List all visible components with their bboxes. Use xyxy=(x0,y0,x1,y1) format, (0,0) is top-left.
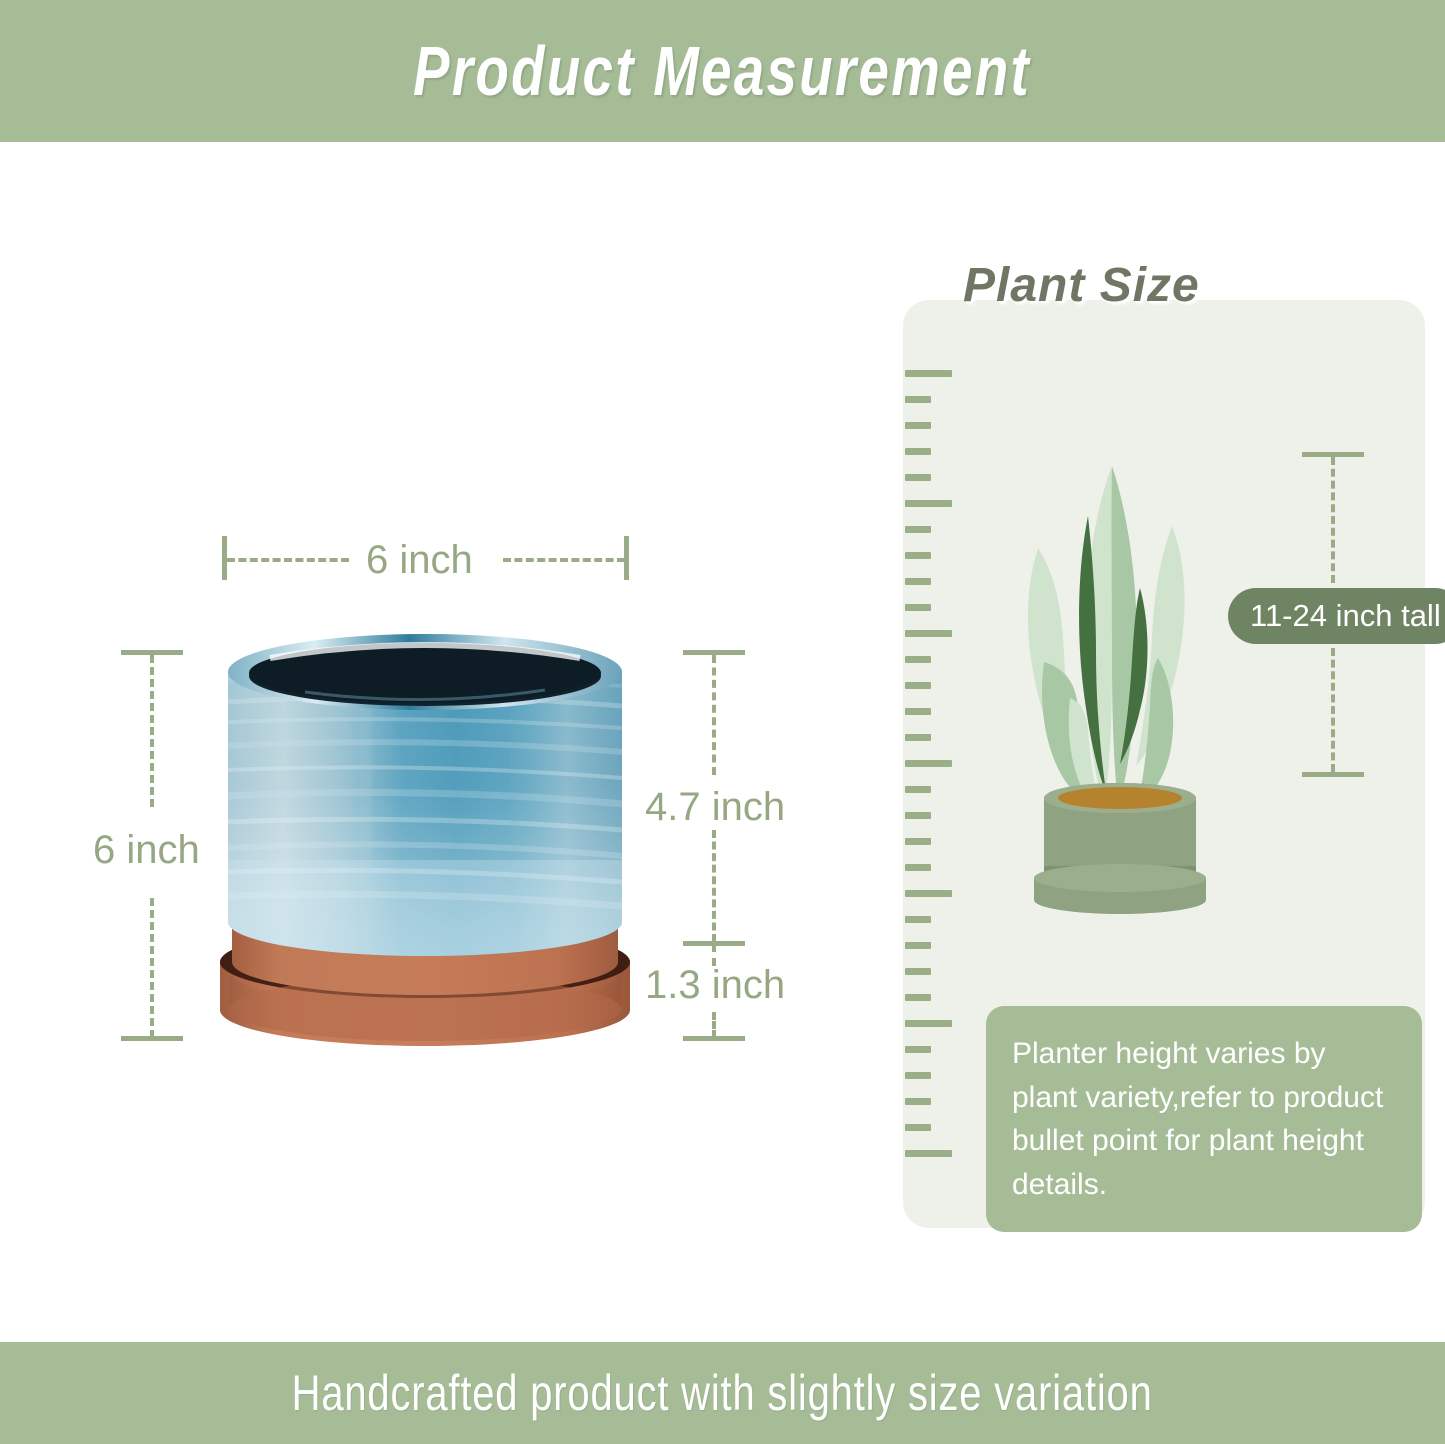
ruler-tick-major xyxy=(905,370,952,377)
ruler-tick-minor xyxy=(905,656,931,663)
ruler-tick-minor xyxy=(905,994,931,1001)
ruler-tick-major xyxy=(905,1150,952,1157)
product-photo xyxy=(210,610,640,1080)
width-dim-line-right xyxy=(503,558,625,562)
ruler-tick-minor xyxy=(905,734,931,741)
ruler-tick-minor xyxy=(905,422,931,429)
ruler-tick-major xyxy=(905,760,952,767)
ruler-tick-minor xyxy=(905,942,931,949)
ruler-tick-minor xyxy=(905,604,931,611)
footer-banner: Handcrafted product with slightly size v… xyxy=(0,1342,1445,1444)
width-dim-line-left xyxy=(227,558,349,562)
ruler-tick-minor xyxy=(905,578,931,585)
infographic-canvas: Product Measurement 6 inch 6 inch 4.7 in… xyxy=(0,0,1445,1444)
ruler-tick-minor xyxy=(905,708,931,715)
ruler-tick-minor xyxy=(905,968,931,975)
ruler-tick-major xyxy=(905,630,952,637)
ruler-tick-minor xyxy=(905,1098,931,1105)
pot-height-line-bottom xyxy=(712,830,716,942)
plant-height-line-bottom xyxy=(1331,648,1335,772)
ruler-tick-minor xyxy=(905,552,931,559)
plant-height-note: Planter height varies by plant variety,r… xyxy=(986,1006,1422,1232)
ruler-tick-minor xyxy=(905,1046,931,1053)
footer-text: Handcrafted product with slightly size v… xyxy=(292,1364,1153,1422)
plant-size-title: Plant Size xyxy=(963,258,1200,313)
plant-height-badge: 11-24 inch tall xyxy=(1228,588,1445,644)
plant-height-cap-bottom xyxy=(1302,772,1364,777)
pot-glazed-body xyxy=(228,672,622,956)
ruler-tick-minor xyxy=(905,1124,931,1131)
ruler-tick-minor xyxy=(905,396,931,403)
ruler-tick-major xyxy=(905,890,952,897)
ruler-tick-minor xyxy=(905,448,931,455)
saucer-height-label: 1.3 inch xyxy=(645,963,785,1008)
ruler-tick-minor xyxy=(905,916,931,923)
pot-height-label: 4.7 inch xyxy=(645,785,785,830)
height-dimension-label: 6 inch xyxy=(93,828,200,873)
pot-height-line-top xyxy=(712,655,716,775)
page-title: Product Measurement xyxy=(414,31,1032,111)
ruler-tick-minor xyxy=(905,812,931,819)
ruler-tick-minor xyxy=(905,682,931,689)
height-dim-line-top xyxy=(150,655,154,807)
ruler-tick-major xyxy=(905,1020,952,1027)
snake-plant-illustration xyxy=(1000,448,1240,918)
ruler xyxy=(905,370,965,1160)
saucer-height-line-bottom xyxy=(712,1012,716,1038)
ruler-tick-minor xyxy=(905,786,931,793)
ruler-tick-minor xyxy=(905,474,931,481)
ruler-tick-minor xyxy=(905,526,931,533)
header-banner: Product Measurement xyxy=(0,0,1445,142)
width-dimension-label: 6 inch xyxy=(366,538,473,583)
ruler-tick-minor xyxy=(905,1072,931,1079)
pot-rim xyxy=(228,634,622,710)
ruler-tick-minor xyxy=(905,864,931,871)
ruler-tick-minor xyxy=(905,838,931,845)
ruler-tick-major xyxy=(905,500,952,507)
height-dim-line-bottom xyxy=(150,898,154,1038)
plant-leaves xyxy=(1028,466,1185,809)
plant-saucer xyxy=(1034,864,1206,914)
plant-height-line-top xyxy=(1331,457,1335,583)
